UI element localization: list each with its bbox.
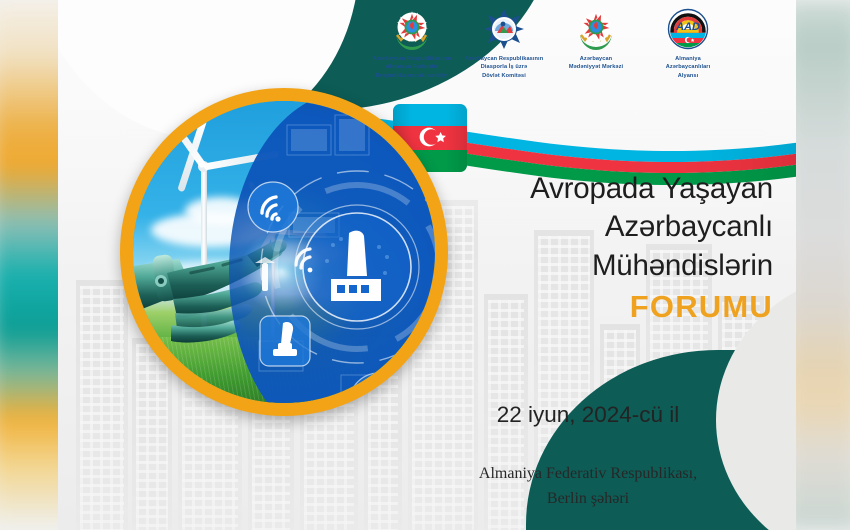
poster-card: Azərbaycan Respublikasının Almaniya Fede…: [58, 0, 796, 530]
location-line: Berlin şəhəri: [388, 487, 788, 512]
azerbaijan-state-emblem-icon: [370, 6, 454, 52]
organizer-caption: Azərbaycan Respublikasının Almaniya Fede…: [370, 55, 454, 80]
organizer-caption: Azərbaycan Respublikasının Diasporla İş …: [462, 55, 546, 80]
organizer-caption: Azərbaycan Mədəniyyət Mərkəzi: [554, 55, 638, 72]
title-line: Avropada Yaşayan: [403, 170, 773, 208]
svg-text:AAD: AAD: [675, 21, 700, 33]
organizer-logo-row: Azərbaycan Respublikasının Almaniya Fede…: [370, 6, 730, 80]
azerbaijan-state-emblem-icon: [554, 6, 638, 52]
robot-hand-technology-circle-icon: [120, 88, 448, 416]
title-highlight-forumu: FORUMU: [403, 289, 773, 325]
organizer-logo-culture-center: Azərbaycan Mədəniyyət Mərkəzi: [554, 6, 638, 72]
title-line: Azərbaycanlı: [403, 208, 773, 246]
location-line: Almaniya Federativ Respublikası,: [388, 462, 788, 487]
poster-title: Avropada Yaşayan Azərbaycanlı Mühəndislə…: [403, 170, 773, 325]
event-location: Almaniya Federativ Respublikası, Berlin …: [388, 462, 788, 512]
organizer-caption: Almaniya Azərbaycanlıları Alyansı: [646, 55, 730, 80]
organizer-logo-diaspora-committee: Azərbaycan Respublikasının Diasporla İş …: [462, 6, 546, 80]
organizer-logo-aad: AAD Almaniya Azərbaycanlıları Alyansı: [646, 6, 730, 80]
organizer-logo-embassy: Azərbaycan Respublikasının Almaniya Fede…: [370, 6, 454, 80]
event-date: 22 iyun, 2024-cü il: [403, 402, 773, 428]
event-poster: Azərbaycan Respublikasının Almaniya Fede…: [0, 0, 850, 530]
aad-alliance-logo-icon: AAD: [646, 6, 730, 52]
diaspora-committee-emblem-icon: [462, 6, 546, 52]
title-line: Mühəndislərin: [403, 247, 773, 285]
